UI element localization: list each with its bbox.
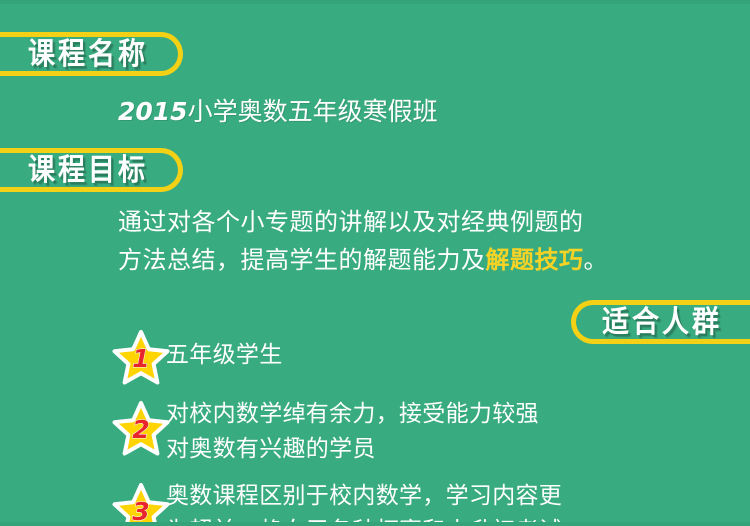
audience-item-text-3: 奥数课程区别于校内数学，学习内容更 为超前，趋向于各种杯赛和小升初考试 (166, 475, 562, 526)
list-item: 3 奥数课程区别于校内数学，学习内容更 为超前，趋向于各种杯赛和小升初考试 (112, 475, 732, 526)
course-goal-paragraph: 通过对各个小专题的讲解以及对经典例题的 方法总结，提高学生的解题能力及解题技巧。 (118, 203, 608, 279)
audience-item-text-1: 五年级学生 (166, 332, 283, 373)
course-goal-line-1: 通过对各个小专题的讲解以及对经典例题的 (118, 203, 608, 241)
star-number-2: 2 (112, 401, 170, 456)
star-number-1: 1 (112, 330, 170, 385)
course-title-year: 2015 (118, 97, 188, 126)
course-goal-line-2-suffix: 。 (584, 246, 609, 274)
section-tab-course-name-label: 课程名称 (28, 39, 148, 69)
audience-item-2-line-1: 对校内数学绰有余力，接受能力较强 (166, 397, 539, 432)
audience-item-1-line-1: 五年级学生 (166, 338, 283, 373)
course-goal-line-2-prefix: 方法总结，提高学生的解题能力及 (118, 246, 486, 274)
audience-list: 1 五年级学生 2 对校内数学绰有余力，接受能力较强 对奥数有兴趣的学员 (112, 332, 732, 526)
audience-item-3-line-1: 奥数课程区别于校内数学，学习内容更 (166, 479, 562, 514)
course-title-name: 小学奥数五年级寒假班 (188, 97, 438, 126)
star-badge-2: 2 (112, 401, 170, 456)
star-number-3: 3 (112, 483, 170, 526)
list-item: 1 五年级学生 (112, 332, 732, 385)
section-tab-course-goal: 课程目标 (0, 148, 183, 192)
star-badge-1: 1 (112, 330, 170, 385)
course-poster: 课程名称 2015小学奥数五年级寒假班 课程目标 通过对各个小专题的讲解以及对经… (0, 0, 750, 526)
list-item: 2 对校内数学绰有余力，接受能力较强 对奥数有兴趣的学员 (112, 393, 732, 467)
section-tab-course-goal-label: 课程目标 (28, 155, 148, 185)
top-divider (0, 0, 750, 4)
star-badge-3: 3 (112, 483, 170, 526)
course-goal-highlight: 解题技巧 (486, 246, 584, 274)
bottom-divider (0, 522, 750, 526)
section-tab-course-name: 课程名称 (0, 32, 183, 76)
course-title: 2015小学奥数五年级寒假班 (118, 92, 438, 128)
audience-item-text-2: 对校内数学绰有余力，接受能力较强 对奥数有兴趣的学员 (166, 393, 539, 467)
audience-item-2-line-2: 对奥数有兴趣的学员 (166, 432, 539, 467)
course-goal-line-2: 方法总结，提高学生的解题能力及解题技巧。 (118, 241, 608, 279)
